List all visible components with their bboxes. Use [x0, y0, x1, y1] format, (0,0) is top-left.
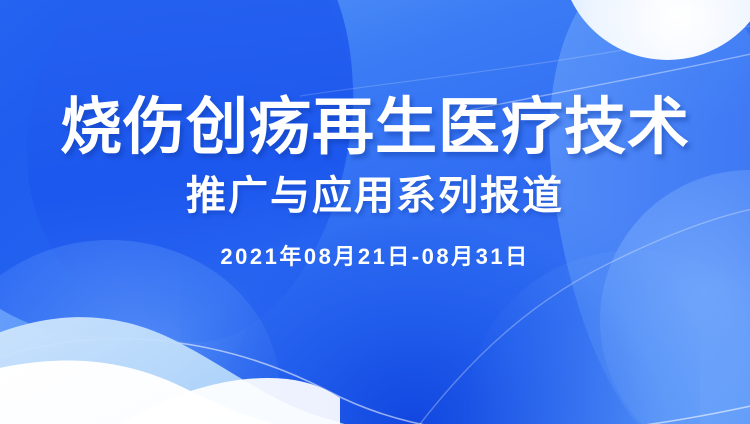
banner-dateline: 2021年08月21日-08月31日 — [220, 239, 529, 271]
banner-subtitle: 推广与应用系列报道 — [186, 175, 564, 217]
banner-title: 烧伤创疡再生医疗技术 — [60, 96, 690, 159]
banner-text-stack: 烧伤创疡再生医疗技术 推广与应用系列报道 2021年08月21日-08月31日 — [0, 0, 750, 424]
promo-banner: 烧伤创疡再生医疗技术 推广与应用系列报道 2021年08月21日-08月31日 — [0, 0, 750, 424]
